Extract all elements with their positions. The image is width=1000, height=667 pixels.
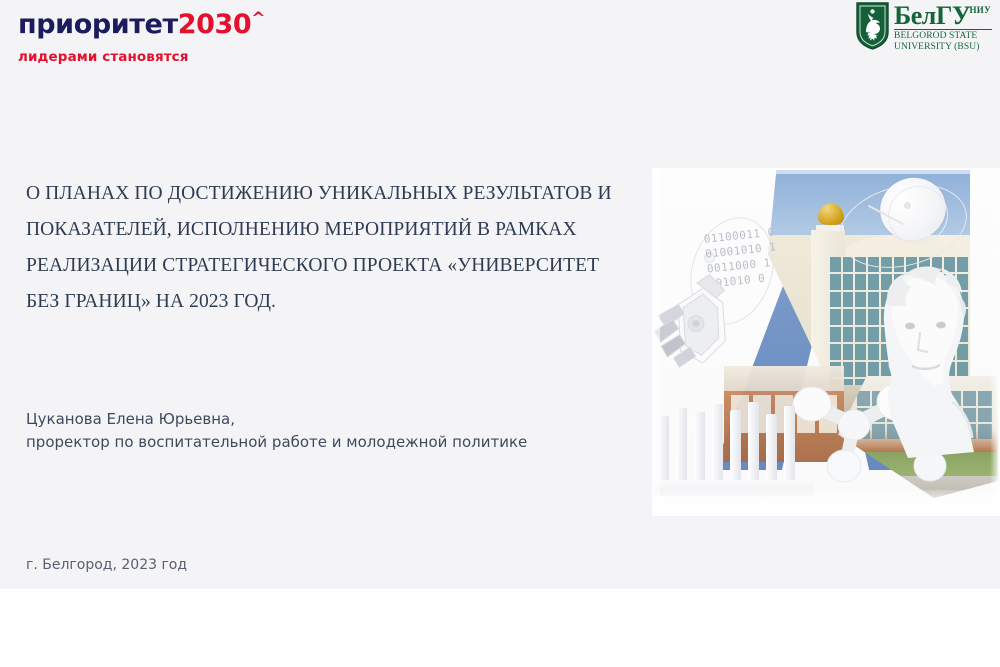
bsu-logo-text: БелГУНИУ BELGOROD STATE UNIVERSITY (BSU) (894, 2, 992, 52)
bsu-english-line-1: BELGOROD STATE (894, 31, 992, 42)
pegasus-shield-icon (856, 2, 889, 50)
title-line-2: ПОКАЗАТЕЛЕЙ, ИСПОЛНЕНИЮ МЕРОПРИЯТИЙ В РА… (26, 212, 626, 248)
author-position: проректор по воспитательной работе и мол… (26, 431, 626, 454)
priority-2030-wordmark: приоритет2030^ (18, 10, 248, 43)
priority-2030-logo: приоритет2030^ лидерами становятся (18, 10, 248, 66)
author-block: Цуканова Елена Юрьевна, проректор по вос… (26, 408, 626, 454)
bsu-abbr-small: НИУ (969, 5, 991, 15)
title-line-1: О ПЛАНАХ ПО ДОСТИЖЕНИЮ УНИКАЛЬНЫХ РЕЗУЛЬ… (26, 176, 626, 212)
priority-word: приоритет (18, 9, 178, 40)
collage-frame-right (990, 168, 1000, 516)
priority-year: 2030 (178, 9, 252, 40)
test-tube (676, 408, 687, 482)
bsu-russian-abbr: БелГУНИУ (894, 3, 992, 28)
test-tube (730, 410, 741, 482)
bsu-abbr-big: БелГУ (894, 1, 970, 30)
collage-image: 01100011 0 01001010 1 0011000 1 001010 0 (652, 168, 1000, 516)
title-line-3: РЕАЛИЗАЦИИ СТРАТЕГИЧЕСКОГО ПРОЕКТА «УНИВ… (26, 248, 626, 284)
test-tube (748, 402, 759, 482)
presentation-slide: приоритет2030^ лидерами становятся БелГУ… (0, 0, 1000, 667)
test-tube (784, 406, 795, 482)
slide-title: О ПЛАНАХ ПО ДОСТИЖЕНИЮ УНИКАЛЬНЫХ РЕЗУЛЬ… (26, 176, 626, 320)
satellite-dish-feed (904, 202, 911, 209)
test-tube (766, 414, 777, 482)
collage-frame-left (652, 168, 660, 516)
bottom-white-strip (0, 589, 1000, 667)
test-tube (712, 404, 723, 482)
bsu-english-line-2: UNIVERSITY (BSU) (894, 42, 992, 53)
priority-caret-icon: ^ (251, 9, 265, 29)
test-tube (694, 412, 705, 482)
collage-canvas: 01100011 0 01001010 1 0011000 1 001010 0 (652, 168, 1000, 516)
author-name: Цуканова Елена Юрьевна, (26, 408, 626, 431)
collage-frame-bottom (652, 490, 1000, 516)
place-and-year: г. Белгород, 2023 год (26, 557, 187, 573)
collage-frame-top (652, 168, 1000, 174)
test-tubes-rack (654, 396, 804, 496)
title-line-4: БЕЗ ГРАНИЦ» НА 2023 ГОД. (26, 284, 626, 320)
david-sculpture-icon (848, 252, 988, 462)
priority-tagline: лидерами становятся (18, 49, 248, 65)
bsu-logo: БелГУНИУ BELGOROD STATE UNIVERSITY (BSU) (856, 2, 992, 54)
